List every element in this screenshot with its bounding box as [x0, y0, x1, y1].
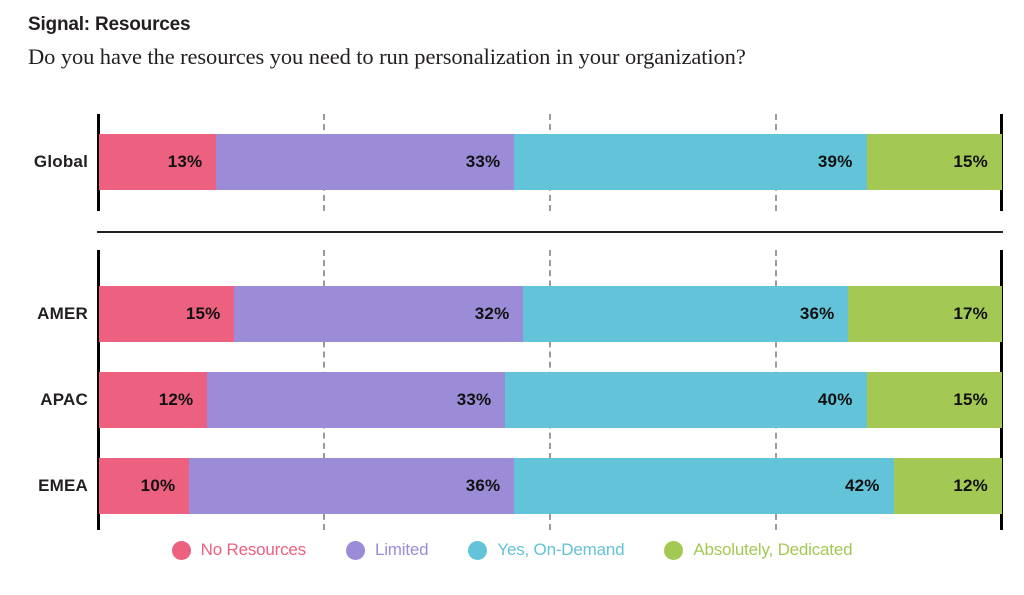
- bar-segment-absolutely-dedicated[interactable]: 12%: [894, 458, 1002, 514]
- legend-swatch-icon: [468, 541, 487, 560]
- stacked-bar-global: 13% 33% 39% 15%: [99, 134, 1002, 190]
- legend-label: Absolutely, Dedicated: [693, 540, 852, 560]
- legend-item-limited[interactable]: Limited: [346, 540, 428, 560]
- page-title: Signal: Resources: [28, 14, 998, 37]
- bar-segment-no-resources[interactable]: 13%: [99, 134, 216, 190]
- stacked-bar-emea: 10% 36% 42% 12%: [99, 458, 1002, 514]
- bar-segment-yes-on-demand[interactable]: 42%: [514, 458, 893, 514]
- legend-label: No Resources: [201, 540, 306, 560]
- table-row: EMEA 10% 36% 42% 12%: [0, 458, 1024, 514]
- legend-swatch-icon: [346, 541, 365, 560]
- bar-segment-no-resources[interactable]: 12%: [99, 372, 207, 428]
- legend-swatch-icon: [664, 541, 683, 560]
- bar-segment-yes-on-demand[interactable]: 39%: [514, 134, 866, 190]
- row-label-apac: APAC: [0, 372, 88, 428]
- stacked-bar-amer: 15% 32% 36% 17%: [99, 286, 1002, 342]
- bar-segment-limited[interactable]: 36%: [189, 458, 514, 514]
- legend-item-no-resources[interactable]: No Resources: [172, 540, 306, 560]
- bar-segment-no-resources[interactable]: 15%: [99, 286, 234, 342]
- panel-divider: [97, 231, 1003, 233]
- bar-segment-absolutely-dedicated[interactable]: 17%: [848, 286, 1002, 342]
- legend-label: Yes, On-Demand: [497, 540, 624, 560]
- legend-label: Limited: [375, 540, 428, 560]
- legend-item-yes-on-demand[interactable]: Yes, On-Demand: [468, 540, 624, 560]
- legend-item-absolutely-dedicated[interactable]: Absolutely, Dedicated: [664, 540, 852, 560]
- chart-header: Signal: Resources Do you have the resour…: [28, 14, 998, 71]
- chart-subtitle: Do you have the resources you need to ru…: [28, 43, 998, 71]
- global-panel: Global 13% 33% 39% 15%: [0, 112, 1024, 212]
- bar-segment-no-resources[interactable]: 10%: [99, 458, 189, 514]
- legend-swatch-icon: [172, 541, 191, 560]
- bar-segment-limited[interactable]: 33%: [216, 134, 514, 190]
- table-row: APAC 12% 33% 40% 15%: [0, 372, 1024, 428]
- row-label-emea: EMEA: [0, 458, 88, 514]
- stacked-bar-apac: 12% 33% 40% 15%: [99, 372, 1002, 428]
- chart-plot-area: Global 13% 33% 39% 15% AMER 15% 32% 36% …: [0, 112, 1024, 532]
- bar-segment-yes-on-demand[interactable]: 40%: [505, 372, 866, 428]
- row-label-global: Global: [0, 134, 88, 190]
- bar-segment-limited[interactable]: 33%: [207, 372, 505, 428]
- region-panel: AMER 15% 32% 36% 17% APAC 12% 33% 40% 15…: [0, 250, 1024, 532]
- bar-segment-limited[interactable]: 32%: [234, 286, 523, 342]
- chart-legend: No Resources Limited Yes, On-Demand Abso…: [0, 540, 1024, 560]
- bar-segment-yes-on-demand[interactable]: 36%: [523, 286, 848, 342]
- bar-segment-absolutely-dedicated[interactable]: 15%: [867, 372, 1002, 428]
- bar-segment-absolutely-dedicated[interactable]: 15%: [867, 134, 1002, 190]
- table-row: AMER 15% 32% 36% 17%: [0, 286, 1024, 342]
- row-label-amer: AMER: [0, 286, 88, 342]
- table-row: Global 13% 33% 39% 15%: [0, 134, 1024, 190]
